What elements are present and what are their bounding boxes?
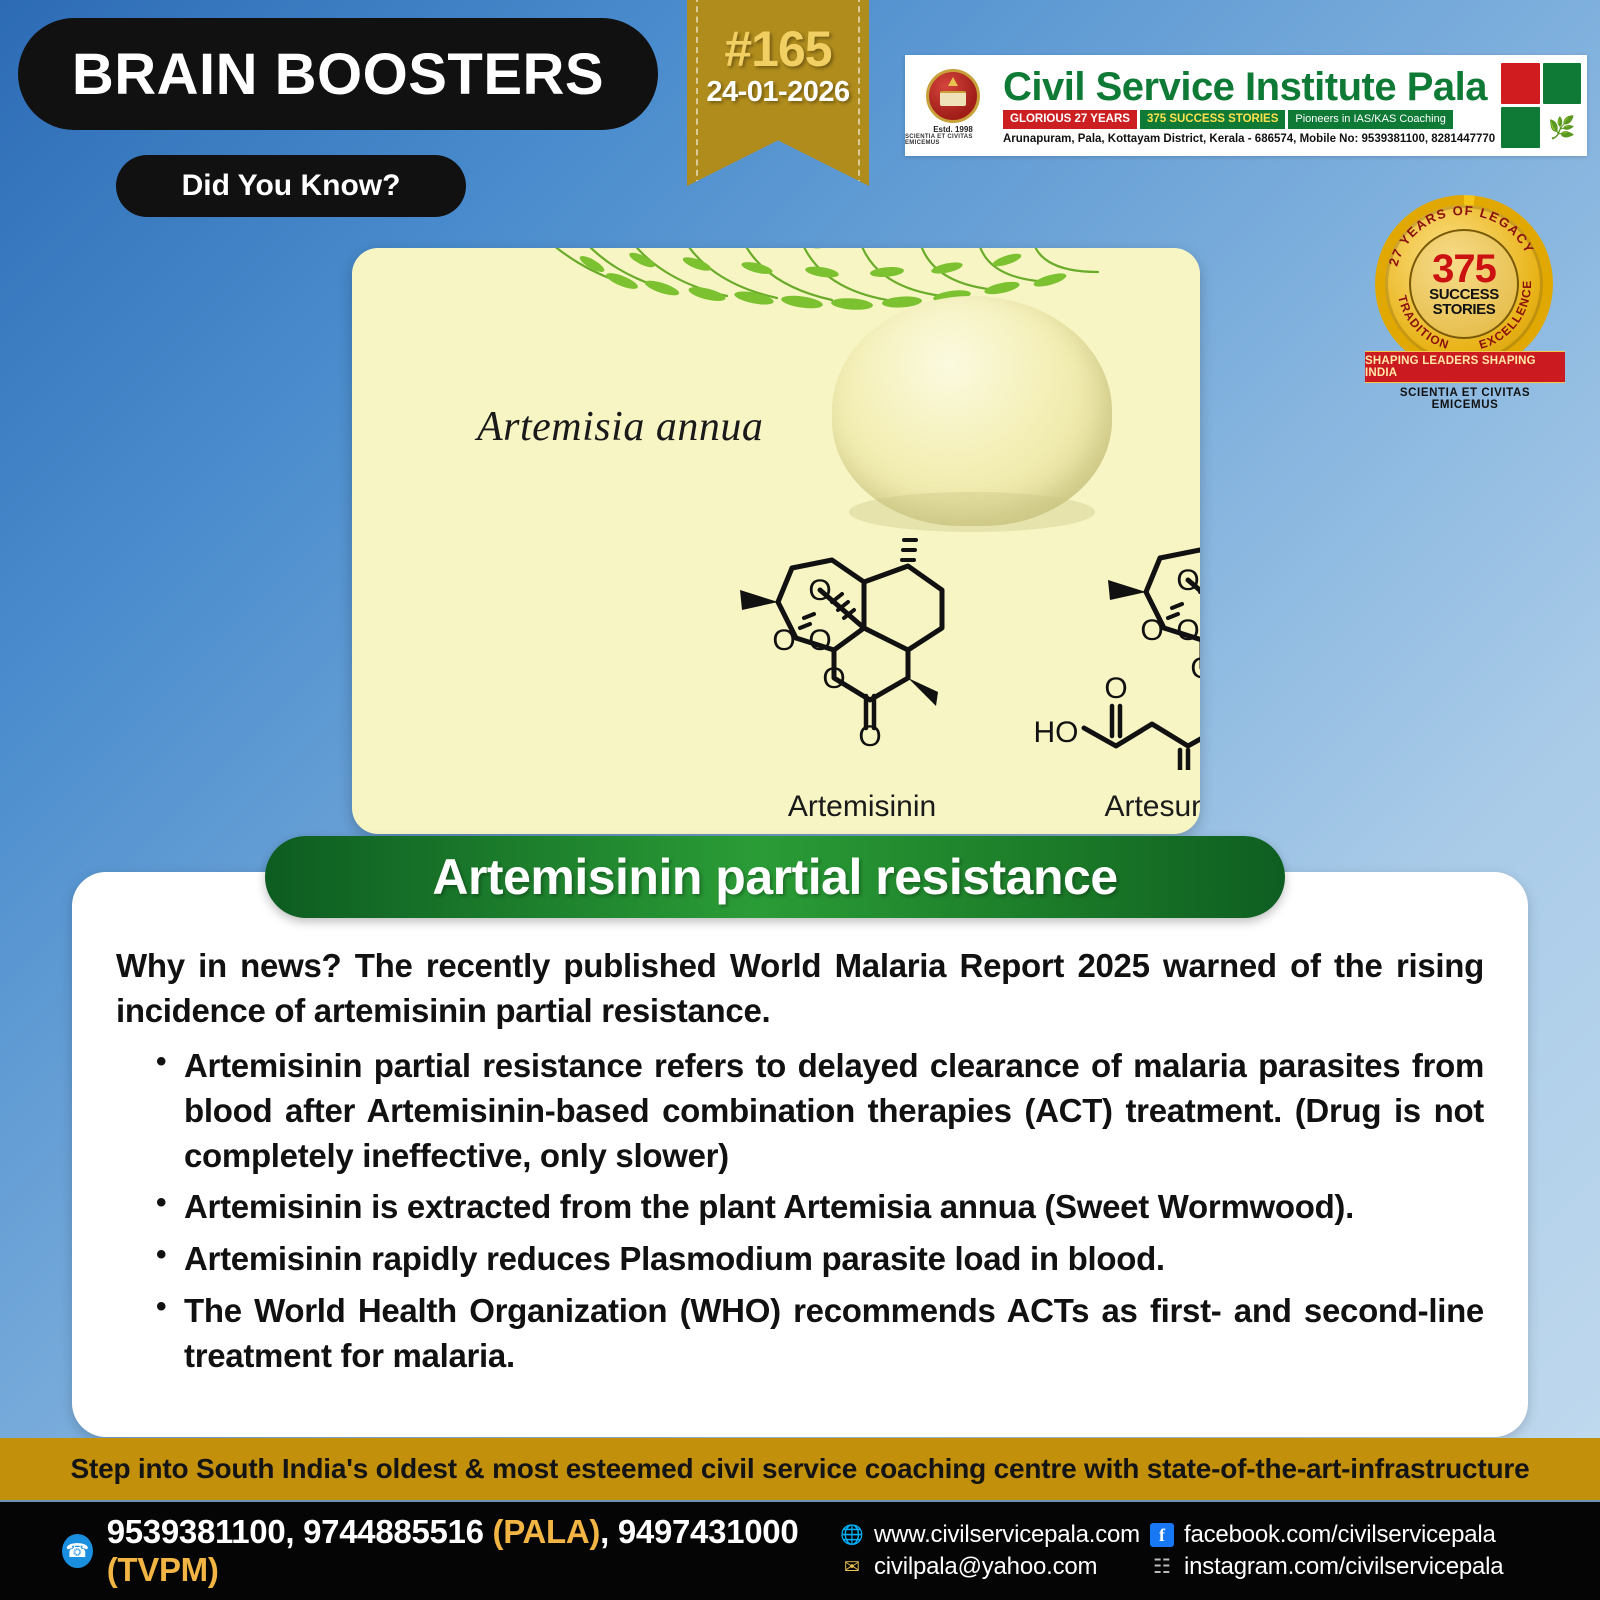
instagram-line[interactable]: ☷ instagram.com/civilservicepala — [1150, 1553, 1503, 1581]
seal-ribbon-banner: SHAPING LEADERS SHAPING INDIA — [1365, 351, 1565, 383]
svg-text:O: O — [822, 662, 845, 695]
topic-title-banner: Artemisinin partial resistance — [265, 836, 1285, 918]
illustration-card: Artemisia annua — [352, 248, 1200, 834]
content-card: Why in news? The recently published Worl… — [72, 872, 1528, 1437]
tag-glorious-years: GLORIOUS 27 YEARS — [1003, 110, 1137, 129]
svg-text:O: O — [858, 720, 881, 753]
instagram-icon: ☷ — [1150, 1555, 1174, 1579]
issue-date: 24-01-2026 — [687, 76, 869, 109]
leaf-icon: 🌿 — [1543, 107, 1582, 148]
brand-title-pill: BRAIN BOOSTERS — [18, 18, 658, 130]
tag-success-stories: 375 SUCCESS STORIES — [1140, 110, 1285, 129]
species-name: Artemisia annua — [477, 403, 763, 451]
seal-number: 375 — [1432, 251, 1496, 288]
institute-tag-row: GLORIOUS 27 YEARS 375 SUCCESS STORIES Pi… — [1003, 110, 1501, 129]
topic-title: Artemisinin partial resistance — [432, 848, 1117, 906]
brand-title: BRAIN BOOSTERS — [72, 41, 604, 108]
svg-text:HO: HO — [1034, 716, 1079, 749]
institute-flag-blocks: 🌿 — [1501, 55, 1587, 156]
svg-text:O: O — [1176, 614, 1199, 647]
list-item: Artemisinin partial resistance refers to… — [156, 1044, 1484, 1179]
website-line[interactable]: 🌐 www.civilservicepala.com — [840, 1521, 1150, 1549]
lead-paragraph: Why in news? The recently published Worl… — [116, 944, 1484, 1034]
seal-banner-label: SHAPING LEADERS SHAPING INDIA — [1365, 355, 1565, 379]
instagram-url: instagram.com/civilservicepala — [1184, 1553, 1503, 1581]
poster-root: BRAIN BOOSTERS Did You Know? #165 24-01-… — [0, 0, 1600, 1600]
institute-seal: Estd. 1998 SCIENTIA ET CIVITAS EMICEMUS — [905, 55, 1001, 156]
flag-block-green-2 — [1501, 107, 1540, 148]
tag-pioneers: Pioneers in IAS/KAS Coaching — [1288, 110, 1452, 129]
structure-row: O O O O O Artemisinin — [352, 510, 1200, 810]
facebook-icon: f — [1150, 1523, 1174, 1547]
social-group: f facebook.com/civilservicepala ☷ instag… — [1150, 1521, 1503, 1581]
seal-success-label: SUCCESS — [1429, 287, 1499, 302]
svg-text:O: O — [1104, 672, 1127, 705]
phone-icon: ☎ — [62, 1534, 93, 1568]
phone-city-tvpm: (TVPM) — [107, 1551, 219, 1588]
structure-artemisinin: O O O O O Artemisinin — [722, 510, 1002, 810]
svg-text:O: O — [808, 574, 831, 607]
svg-text:O: O — [808, 624, 831, 657]
book-icon — [940, 91, 966, 106]
seal-bottom-motto: SCIENTIA ET CIVITAS EMICEMUS — [1365, 387, 1565, 411]
institute-emblem-icon — [926, 69, 980, 123]
tag-success-stories-label: 375 SUCCESS STORIES — [1147, 113, 1278, 125]
institute-name: Civil Service Institute Pala — [1003, 67, 1501, 107]
phone-part-2: , 9497431000 — [600, 1513, 798, 1550]
seal-inner-disc: 375 SUCCESS STORIES — [1409, 229, 1519, 339]
issue-ribbon: #165 24-01-2026 — [687, 0, 869, 186]
brand-subtitle: Did You Know? — [182, 169, 401, 203]
tagline-strip: Step into South India's oldest & most es… — [0, 1438, 1600, 1500]
flag-block-green-1 — [1543, 63, 1582, 104]
artesunate-structure-svg: O O O O O O O HO — [1012, 510, 1200, 770]
facebook-line[interactable]: f facebook.com/civilservicepala — [1150, 1521, 1503, 1549]
mail-icon: ✉ — [840, 1555, 864, 1579]
legacy-seal: 27 YEARS OF LEGACY TRADITION EXCELLENCE … — [1365, 195, 1565, 410]
website-url: www.civilservicepala.com — [874, 1521, 1140, 1549]
tagline-text: Step into South India's oldest & most es… — [70, 1453, 1529, 1485]
institute-address: Arunapuram, Pala, Kottayam District, Ker… — [1003, 133, 1501, 145]
seal-stories-label: STORIES — [1433, 302, 1496, 317]
svg-text:O: O — [1176, 564, 1199, 597]
structure-label-artesunate: Artesunate — [1012, 790, 1200, 824]
list-item: Artemisinin is extracted from the plant … — [156, 1185, 1484, 1230]
institute-estd: Estd. 1998 — [933, 125, 973, 134]
globe-icon: 🌐 — [840, 1523, 864, 1547]
artemisinin-powder-image — [832, 296, 1112, 526]
svg-text:O: O — [772, 624, 795, 657]
phone-part-1: 9539381100, 9744885516 — [107, 1513, 493, 1550]
svg-text:O: O — [1140, 614, 1163, 647]
flag-block-red — [1501, 63, 1540, 104]
issue-number: #165 — [687, 20, 869, 78]
structure-label-artemisinin: Artemisinin — [722, 790, 1002, 824]
phone-numbers[interactable]: 9539381100, 9744885516 (PALA), 949743100… — [107, 1513, 840, 1589]
email-address: civilpala@yahoo.com — [874, 1553, 1097, 1581]
list-item: The World Health Organization (WHO) reco… — [156, 1289, 1484, 1379]
phone-city-pala: (PALA) — [493, 1513, 601, 1550]
brand-subtitle-pill: Did You Know? — [116, 155, 466, 217]
institute-text-block: Civil Service Institute Pala GLORIOUS 27… — [1001, 55, 1501, 156]
artemisinin-structure-svg: O O O O O — [722, 510, 1002, 770]
web-group: 🌐 www.civilservicepala.com ✉ civilpala@y… — [840, 1521, 1150, 1581]
list-item: Artemisinin rapidly reduces Plasmodium p… — [156, 1237, 1484, 1282]
bullet-list: Artemisinin partial resistance refers to… — [116, 1044, 1484, 1379]
phone-group: ☎ 9539381100, 9744885516 (PALA), 9497431… — [0, 1513, 840, 1589]
contact-bar: ☎ 9539381100, 9744885516 (PALA), 9497431… — [0, 1500, 1600, 1600]
structure-artesunate: O O O O O O O HO Artesunate — [1012, 510, 1200, 810]
email-line[interactable]: ✉ civilpala@yahoo.com — [840, 1553, 1150, 1581]
svg-text:O: O — [1190, 652, 1200, 685]
facebook-url: facebook.com/civilservicepala — [1184, 1521, 1496, 1549]
institute-banner: Estd. 1998 SCIENTIA ET CIVITAS EMICEMUS … — [905, 55, 1587, 156]
institute-seal-motto: SCIENTIA ET CIVITAS EMICEMUS — [905, 134, 1001, 146]
